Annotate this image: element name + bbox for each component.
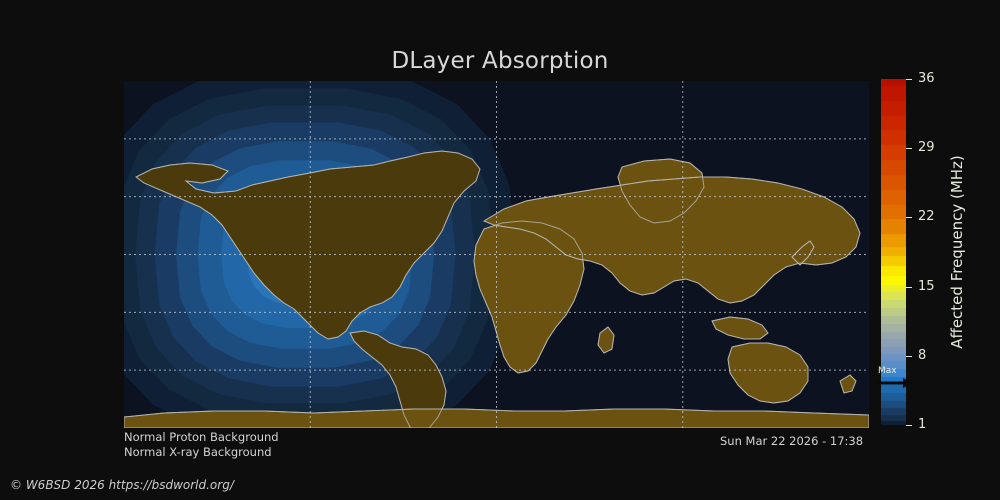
colorbar-tick-label: 29 <box>918 139 935 156</box>
status-proton-background: Normal Proton Background <box>124 430 279 444</box>
colorbar-tick-label: 1 <box>918 416 926 433</box>
colorbar-tick-mark <box>906 148 912 149</box>
colorbar-tick-mark <box>906 217 912 218</box>
colorbar-tick-label: 15 <box>918 278 935 295</box>
copyright-footer: © W6BSD 2026 https://bsdworld.org/ <box>10 478 234 492</box>
status-xray-background: Normal X-ray Background <box>124 445 272 459</box>
colorbar-axis-label: Affected Frequency (MHz) <box>945 79 969 425</box>
colorbar-tick-mark <box>906 356 912 357</box>
colorbar[interactable]: 3629221581 <box>881 79 906 425</box>
colorbar-tick-mark <box>906 79 912 80</box>
colorbar-gradient <box>881 79 906 425</box>
colorbar-tick-label: 36 <box>918 70 935 87</box>
colorbar-tick-label: 22 <box>918 208 935 225</box>
world-map-svg[interactable] <box>124 81 869 428</box>
colorbar-tick-mark <box>906 287 912 288</box>
colorbar-tick-1: 1 <box>906 425 952 426</box>
colorbar-tick-label: 8 <box>918 347 926 364</box>
dlayer-absorption-app: DLayer Absorption <box>0 0 1000 500</box>
world-map-panel[interactable] <box>124 81 869 428</box>
timestamp-label: Sun Mar 22 2026 - 17:38 <box>720 434 863 448</box>
page-title: DLayer Absorption <box>0 48 1000 74</box>
colorbar-tick-mark <box>906 425 912 426</box>
